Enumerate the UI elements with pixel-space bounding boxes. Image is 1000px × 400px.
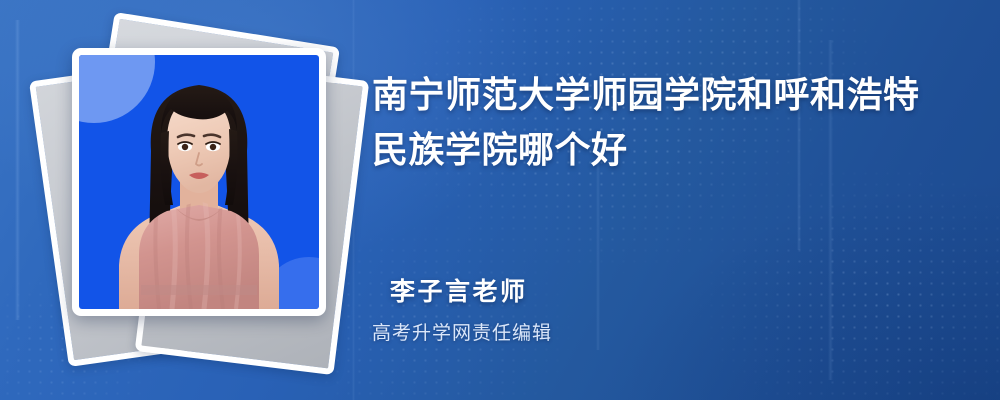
photo-card-front: [72, 48, 326, 316]
dress-waistband: [141, 285, 257, 295]
portrait-eye-right-iris: [210, 144, 216, 150]
article-headline: 南宁师范大学师园学院和呼和浩特 民族学院哪个好: [372, 68, 972, 177]
article-banner: 南宁师范大学师园学院和呼和浩特 民族学院哪个好 李子言老师 高考升学网责任编辑: [0, 0, 1000, 400]
headline-line-2: 民族学院哪个好: [372, 123, 972, 178]
headline-line-1: 南宁师范大学师园学院和呼和浩特: [372, 68, 972, 123]
author-portrait-illustration: [79, 55, 319, 309]
portrait-eye-left-iris: [182, 144, 188, 150]
author-role: 高考升学网责任编辑: [372, 318, 972, 345]
banner-text-column: 南宁师范大学师园学院和呼和浩特 民族学院哪个好 李子言老师 高考升学网责任编辑: [372, 0, 972, 400]
author-photo: [79, 55, 319, 309]
author-name: 李子言老师: [372, 272, 972, 308]
photo-stack: [42, 26, 342, 374]
author-byline: 李子言老师 高考升学网责任编辑: [372, 272, 972, 345]
